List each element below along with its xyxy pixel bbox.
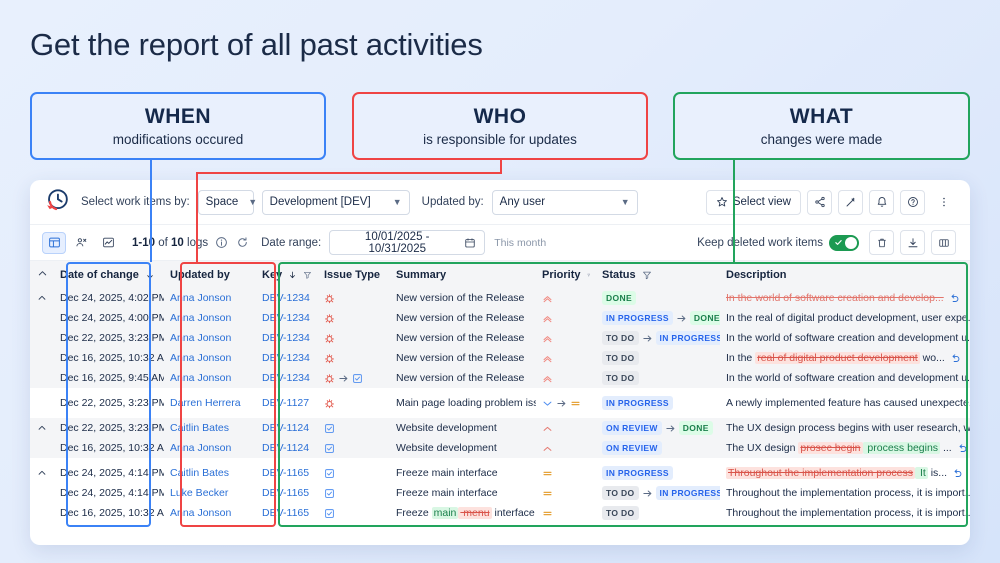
cell-priority	[536, 308, 596, 328]
sort-desc-icon	[288, 270, 297, 280]
cell-key[interactable]: DEV-1127	[256, 393, 318, 413]
sort-desc-icon	[145, 270, 155, 280]
more-options-button[interactable]	[931, 190, 956, 215]
cell-issue-type	[318, 463, 390, 483]
cell-issue-type	[318, 348, 390, 368]
cell-updated-by[interactable]: Luke Becker	[164, 483, 256, 503]
task-icon	[324, 443, 335, 454]
cell-summary: Main page loading problem issue	[390, 393, 536, 413]
desc-part-0: Throughout the implementation process	[726, 467, 915, 479]
date-range-label: Date range:	[261, 237, 321, 249]
table-row[interactable]: Dec 22, 2025, 3:23 PMDarren HerreraDEV-1…	[30, 393, 970, 413]
chevron-up-icon[interactable]	[37, 293, 47, 303]
desc-part-1: prosec begin	[798, 442, 862, 454]
status-badge: IN PROGRESS	[656, 486, 720, 500]
desc-part-0: Throughout the implementation process, i…	[726, 507, 970, 519]
chevron-up-icon[interactable]	[37, 468, 47, 478]
chart-view-icon	[102, 236, 115, 249]
table-row[interactable]: Dec 22, 2025, 3:23 PMAnna JonsonDEV-1234…	[30, 328, 970, 348]
status-badge: TO DO	[602, 506, 639, 520]
status-badge: IN PROGRESS	[602, 311, 673, 325]
cell-summary: Freeze main menu interface	[390, 503, 536, 523]
cell-updated-by[interactable]: Anna Jonson	[164, 328, 256, 348]
arrow-right-icon	[676, 313, 687, 324]
status-badge: IN PROGRESS	[656, 331, 720, 345]
cell-date-of-change: Dec 22, 2025, 3:23 PM	[54, 328, 164, 348]
callout-when-title: WHEN	[145, 105, 211, 129]
bug-icon	[324, 353, 335, 364]
th-user-label: Updated by	[170, 269, 230, 281]
cell-priority	[536, 483, 596, 503]
cell-priority	[536, 438, 596, 458]
select-view-label: Select view	[733, 196, 791, 208]
delete-button[interactable]	[869, 230, 894, 255]
th-date-label: Date of change	[60, 269, 139, 281]
connector-what	[733, 160, 735, 262]
cell-summary: Website development	[390, 438, 536, 458]
desc-part-2: is...	[928, 467, 947, 479]
cell-updated-by[interactable]: Anna Jonson	[164, 308, 256, 328]
priority-high-icon	[542, 443, 553, 454]
desc-part-2: wo...	[920, 352, 945, 364]
priority-high-icon	[542, 423, 553, 434]
callout-who: WHO is responsible for updates	[352, 92, 648, 160]
cell-priority	[536, 288, 596, 308]
priority-medium-icon	[542, 508, 553, 519]
callout-who-subtitle: is responsible for updates	[423, 132, 577, 147]
cell-summary: Freeze main interface	[390, 463, 536, 483]
cell-summary: Freeze main interface	[390, 483, 536, 503]
updated-by-label: Updated by:	[422, 196, 484, 208]
task-icon	[324, 423, 335, 434]
cell-description: Throughout the implementation process It…	[720, 463, 970, 483]
space-select[interactable]: Space ▼	[198, 190, 254, 215]
cell-date-of-change: Dec 24, 2025, 4:02 PM	[54, 288, 164, 308]
cell-updated-by[interactable]: Anna Jonson	[164, 288, 256, 308]
cell-status: TO DO	[596, 503, 720, 523]
priority-medium-icon	[542, 488, 553, 499]
help-button[interactable]	[900, 190, 925, 215]
chevron-down-icon: ▼	[611, 197, 630, 207]
cell-description: The UX design process begins with user r…	[720, 418, 970, 438]
logs-of: of	[155, 237, 171, 249]
desc-part-0: The UX design	[726, 442, 798, 454]
star-icon	[716, 196, 728, 208]
info-circle-icon[interactable]	[215, 236, 228, 249]
check-icon	[834, 238, 843, 247]
cell-status: IN PROGRESS	[596, 393, 720, 413]
refresh-icon[interactable]	[236, 236, 249, 249]
row-expand-cell	[30, 348, 54, 368]
status-badge: IN PROGRESS	[602, 466, 673, 480]
arrow-right-icon	[665, 423, 676, 434]
status-badge: DONE	[679, 421, 713, 435]
priority-low-icon	[542, 398, 553, 409]
row-expand-cell	[30, 368, 54, 388]
callout-who-title: WHO	[474, 105, 527, 129]
th-summary-label: Summary	[396, 269, 446, 281]
row-expand-cell	[30, 483, 54, 503]
cell-priority	[536, 418, 596, 438]
arrow-right-icon	[642, 488, 653, 499]
callout-when-subtitle: modifications occured	[113, 132, 244, 147]
chart-view-button[interactable]	[96, 232, 120, 254]
date-range-input[interactable]: 10/01/2025 - 10/31/2025	[329, 230, 485, 255]
this-month-label: This month	[494, 237, 546, 249]
cell-description: In the real of digital product developme…	[720, 308, 970, 328]
project-select[interactable]: Development [DEV] ▼	[262, 190, 410, 215]
row-expand-cell[interactable]	[30, 418, 54, 438]
table-row[interactable]: Dec 24, 2025, 4:02 PMAnna JonsonDEV-1234…	[30, 288, 970, 308]
row-expand-cell	[30, 393, 54, 413]
row-expand-cell[interactable]	[30, 463, 54, 483]
summary-part-3: interface	[492, 507, 535, 519]
connector-who-horiz	[196, 172, 502, 174]
row-expand-cell	[30, 503, 54, 523]
cell-issue-type	[318, 503, 390, 523]
th-expand	[30, 261, 54, 288]
priority-highest-icon	[542, 333, 553, 344]
row-expand-cell	[30, 328, 54, 348]
logs-total: 10	[171, 237, 184, 249]
cell-status: IN PROGRESSDONE	[596, 308, 720, 328]
desc-part-0: In the real of digital product developme…	[726, 312, 970, 324]
select-work-items-label: Select work items by:	[81, 196, 190, 208]
cell-description: Throughout the implementation process, i…	[720, 503, 970, 523]
space-select-value: Space	[206, 196, 239, 208]
bug-icon	[324, 293, 335, 304]
cell-summary: Website development	[390, 418, 536, 438]
th-date-of-change[interactable]: Date of change	[54, 261, 164, 288]
th-summary[interactable]: Summary	[390, 261, 536, 288]
cell-priority	[536, 348, 596, 368]
cell-date-of-change: Dec 22, 2025, 3:23 PM	[54, 418, 164, 438]
activity-report-card: Select work items by: Space ▼ Developmen…	[30, 180, 970, 545]
cell-issue-type	[318, 438, 390, 458]
cell-key[interactable]: DEV-1234	[256, 348, 318, 368]
cell-status: ON REVIEWDONE	[596, 418, 720, 438]
cell-priority	[536, 503, 596, 523]
cell-issue-type	[318, 288, 390, 308]
cell-status: ON REVIEW	[596, 438, 720, 458]
callout-what: WHAT changes were made	[673, 92, 970, 160]
cell-status: TO DOIN PROGRESS	[596, 483, 720, 503]
table-row[interactable]: Dec 16, 2025, 10:32 AMAnna JonsonDEV-116…	[30, 503, 970, 523]
undo-icon[interactable]	[950, 353, 961, 364]
cell-key[interactable]: DEV-1165	[256, 463, 318, 483]
desc-part-0: In the world of software creation and de…	[726, 332, 970, 344]
cell-status: DONE	[596, 288, 720, 308]
cell-priority	[536, 368, 596, 388]
cell-updated-by[interactable]: Caitlin Bates	[164, 418, 256, 438]
status-badge: IN PROGRESS	[602, 396, 673, 410]
magic-wand-icon	[845, 196, 857, 208]
cell-key[interactable]: DEV-1234	[256, 368, 318, 388]
undo-icon[interactable]	[949, 293, 960, 304]
share-button[interactable]	[807, 190, 832, 215]
status-badge: ON REVIEW	[602, 441, 662, 455]
select-view-button[interactable]: Select view	[706, 190, 801, 215]
cell-status: TO DOIN PROGRESS	[596, 328, 720, 348]
bug-icon	[324, 313, 335, 324]
cell-description: In the world of software creation and de…	[720, 368, 970, 388]
cell-issue-type	[318, 483, 390, 503]
cell-priority	[536, 328, 596, 348]
cell-description: In the world of software creation and de…	[720, 328, 970, 348]
chevron-up-icon[interactable]	[37, 423, 47, 433]
trash-icon	[876, 237, 888, 249]
date-range-value: 10/01/2025 - 10/31/2025	[338, 231, 456, 255]
cell-key[interactable]: DEV-1165	[256, 503, 318, 523]
cell-summary: New version of the Release	[390, 348, 536, 368]
updated-by-select-value: Any user	[500, 196, 545, 208]
table-view-icon	[48, 236, 61, 249]
cell-date-of-change: Dec 24, 2025, 4:00 PM	[54, 308, 164, 328]
th-updated-by[interactable]: Updated by	[164, 261, 256, 288]
cell-key[interactable]: DEV-1124	[256, 418, 318, 438]
priority-highest-icon	[542, 293, 553, 304]
arrow-right-icon	[642, 333, 653, 344]
desc-part-0: In the	[726, 352, 755, 364]
table-row[interactable]: Dec 16, 2025, 9:45 AMAnna JonsonDEV-1234…	[30, 368, 970, 388]
cell-key[interactable]: DEV-1234	[256, 328, 318, 348]
task-icon	[324, 488, 335, 499]
th-description[interactable]: Description	[720, 261, 970, 288]
table-row[interactable]: Dec 16, 2025, 10:32 AMAnna JonsonDEV-112…	[30, 438, 970, 458]
status-badge: DONE	[602, 291, 636, 305]
undo-icon[interactable]	[957, 443, 968, 454]
cell-date-of-change: Dec 22, 2025, 3:23 PM	[54, 393, 164, 413]
magic-wand-button[interactable]	[838, 190, 863, 215]
page-title: Get the report of all past activities	[30, 27, 483, 63]
chevron-up-icon[interactable]	[37, 268, 48, 279]
priority-medium-icon	[542, 468, 553, 479]
desc-part-0: In the world of software creation and de…	[726, 372, 970, 384]
priority-medium-icon	[570, 398, 581, 409]
more-vertical-icon	[938, 196, 950, 208]
status-badge: TO DO	[602, 351, 639, 365]
bell-icon	[876, 196, 888, 208]
cell-summary: New version of the Release	[390, 288, 536, 308]
filter-icon[interactable]	[303, 270, 312, 280]
status-badge: ON REVIEW	[602, 421, 662, 435]
priority-highest-icon	[542, 313, 553, 324]
filter-icon[interactable]	[642, 270, 652, 280]
status-badge: TO DO	[602, 371, 639, 385]
cell-priority	[536, 463, 596, 483]
cell-description: A newly implemented feature has caused u…	[720, 393, 970, 413]
cell-issue-type	[318, 418, 390, 438]
filter-toolbar: Select work items by: Space ▼ Developmen…	[30, 180, 970, 225]
th-key[interactable]: Key	[256, 261, 318, 288]
summary-part-1: main	[432, 507, 459, 519]
share-icon	[814, 196, 826, 208]
th-key-label: Key	[262, 269, 282, 281]
cell-description: Throughout the implementation process, i…	[720, 483, 970, 503]
cell-key[interactable]: DEV-1234	[256, 288, 318, 308]
cell-date-of-change: Dec 16, 2025, 10:32 AM	[54, 503, 164, 523]
table-row[interactable]: Dec 16, 2025, 10:32 AMAnna JonsonDEV-123…	[30, 348, 970, 368]
cell-description: In the real of digital product developme…	[720, 348, 970, 368]
cell-issue-type	[318, 393, 390, 413]
undo-icon[interactable]	[952, 468, 963, 479]
updated-by-select[interactable]: Any user ▼	[492, 190, 638, 215]
cell-date-of-change: Dec 16, 2025, 10:32 AM	[54, 348, 164, 368]
people-view-button[interactable]	[69, 232, 93, 254]
cell-issue-type	[318, 368, 390, 388]
connector-who-vert-lower	[196, 172, 198, 262]
cell-issue-type	[318, 328, 390, 348]
row-expand-cell	[30, 308, 54, 328]
cell-description: The UX design prosec begin process begin…	[720, 438, 970, 458]
arrow-right-icon	[338, 373, 349, 384]
cell-issue-type	[318, 308, 390, 328]
desc-part-3: ...	[940, 442, 952, 454]
cell-description: In the world of software creation and de…	[720, 288, 970, 308]
cell-key[interactable]: DEV-1165	[256, 483, 318, 503]
cell-updated-by[interactable]: Anna Jonson	[164, 368, 256, 388]
cell-updated-by[interactable]: Darren Herrera	[164, 393, 256, 413]
filter-icon[interactable]	[587, 270, 590, 280]
activity-log-table: Date of change Updated by Key	[30, 261, 970, 523]
priority-highest-icon	[542, 373, 553, 384]
history-clock-icon	[42, 187, 72, 217]
desc-part-1: real of digital product development	[755, 352, 920, 364]
status-badge: DONE	[690, 311, 720, 325]
row-expand-cell[interactable]	[30, 288, 54, 308]
download-icon	[907, 237, 919, 249]
task-icon	[352, 373, 363, 384]
cell-updated-by[interactable]: Anna Jonson	[164, 348, 256, 368]
desc-part-2: process begins	[863, 442, 941, 454]
cell-summary: New version of the Release	[390, 368, 536, 388]
summary-part-0: Freeze	[396, 507, 432, 519]
table-row[interactable]: Dec 24, 2025, 4:00 PMAnna JonsonDEV-1234…	[30, 308, 970, 328]
status-badge: TO DO	[602, 486, 639, 500]
th-desc-label: Description	[726, 269, 787, 281]
connector-when	[150, 160, 152, 262]
th-priority[interactable]: Priority	[536, 261, 596, 288]
people-view-icon	[75, 236, 88, 249]
notifications-button[interactable]	[869, 190, 894, 215]
table-body: Dec 24, 2025, 4:02 PMAnna JonsonDEV-1234…	[30, 288, 970, 523]
columns-icon	[938, 237, 950, 249]
summary-part-2: menu	[458, 507, 491, 519]
th-status[interactable]: Status	[596, 261, 720, 288]
cell-key[interactable]: DEV-1124	[256, 438, 318, 458]
table-view-button[interactable]	[42, 232, 66, 254]
table-row[interactable]: Dec 24, 2025, 4:14 PMLuke BeckerDEV-1165…	[30, 483, 970, 503]
desc-part-0: Throughout the implementation process, i…	[726, 487, 970, 499]
th-type-label: Issue Type	[324, 269, 380, 281]
desc-part-0: In the world of software creation and de…	[726, 292, 944, 304]
cell-date-of-change: Dec 16, 2025, 9:45 AM	[54, 368, 164, 388]
cell-summary: New version of the Release	[390, 328, 536, 348]
toggle-knob	[845, 237, 857, 249]
table-header-row: Date of change Updated by Key	[30, 261, 970, 288]
cell-key[interactable]: DEV-1234	[256, 308, 318, 328]
cell-date-of-change: Dec 24, 2025, 4:14 PM	[54, 483, 164, 503]
calendar-icon	[464, 237, 476, 249]
task-icon	[324, 508, 335, 519]
th-status-label: Status	[602, 269, 636, 281]
project-select-value: Development [DEV]	[270, 196, 371, 208]
task-icon	[324, 468, 335, 479]
callout-when: WHEN modifications occured	[30, 92, 326, 160]
columns-button[interactable]	[931, 230, 956, 255]
status-badge: TO DO	[602, 331, 639, 345]
download-button[interactable]	[900, 230, 925, 255]
cell-date-of-change: Dec 16, 2025, 10:32 AM	[54, 438, 164, 458]
th-priority-label: Priority	[542, 269, 581, 281]
chevron-down-icon: ▼	[383, 197, 402, 207]
bug-icon	[324, 398, 335, 409]
th-issue-type[interactable]: Issue Type	[318, 261, 390, 288]
priority-highest-icon	[542, 353, 553, 364]
view-toolbar: 1-10 of 10 logs Date range: 10/01/2025 -…	[30, 225, 970, 261]
help-circle-icon	[907, 196, 919, 208]
table-row[interactable]: Dec 22, 2025, 3:23 PMCaitlin BatesDEV-11…	[30, 418, 970, 438]
arrow-right-icon	[556, 398, 567, 409]
cell-updated-by[interactable]: Anna Jonson	[164, 438, 256, 458]
cell-status: TO DO	[596, 348, 720, 368]
cell-status: TO DO	[596, 368, 720, 388]
keep-deleted-toggle[interactable]	[829, 235, 859, 251]
cell-date-of-change: Dec 24, 2025, 4:14 PM	[54, 463, 164, 483]
cell-updated-by[interactable]: Anna Jonson	[164, 503, 256, 523]
table-row[interactable]: Dec 24, 2025, 4:14 PMCaitlin BatesDEV-11…	[30, 463, 970, 483]
row-expand-cell	[30, 438, 54, 458]
desc-part-1: It	[915, 467, 928, 479]
bug-icon	[324, 333, 335, 344]
callout-what-title: WHAT	[790, 105, 853, 129]
cell-status: IN PROGRESS	[596, 463, 720, 483]
desc-part-0: The UX design process begins with user r…	[726, 422, 970, 434]
bug-icon	[324, 373, 335, 384]
table-header: Date of change Updated by Key	[30, 261, 970, 288]
callout-what-subtitle: changes were made	[761, 132, 883, 147]
chevron-down-icon: ▼	[238, 197, 257, 207]
cell-priority	[536, 393, 596, 413]
keep-deleted-label: Keep deleted work items	[697, 237, 823, 249]
cell-summary: New version of the Release	[390, 308, 536, 328]
cell-updated-by[interactable]: Caitlin Bates	[164, 463, 256, 483]
desc-part-0: A newly implemented feature has caused u…	[726, 397, 970, 409]
